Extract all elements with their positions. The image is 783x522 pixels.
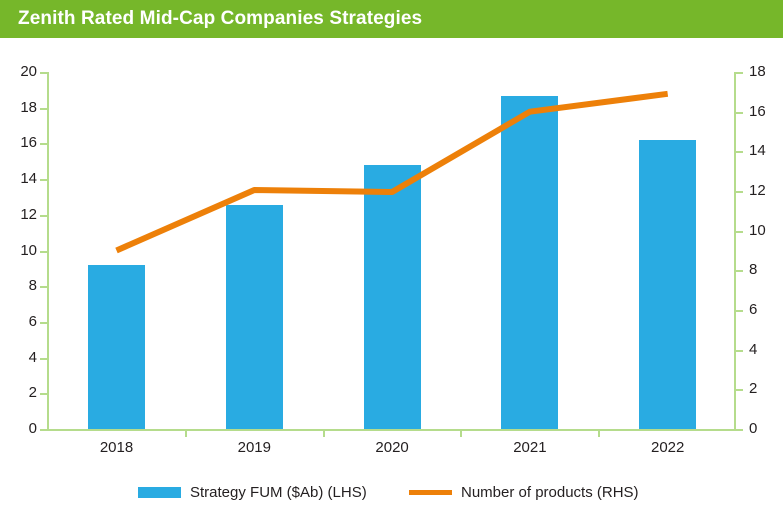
left-axis-label: 8: [1, 277, 37, 294]
left-axis-tick: [40, 286, 47, 288]
right-axis-tick: [736, 112, 743, 114]
left-axis-tick: [40, 393, 47, 395]
x-axis-label-2022: 2022: [608, 439, 728, 456]
chart-card: Zenith Rated Mid-Cap Companies Strategie…: [0, 0, 783, 522]
right-axis-label: 4: [749, 341, 783, 358]
chart-legend: Strategy FUM ($Ab) (LHS) Number of produ…: [0, 480, 783, 514]
left-axis-tick: [40, 429, 47, 431]
right-axis-tick: [736, 270, 743, 272]
left-axis-label: 0: [1, 420, 37, 437]
right-axis-label: 10: [749, 222, 783, 239]
left-axis-tick: [40, 179, 47, 181]
right-axis-label: 18: [749, 63, 783, 80]
left-axis-tick: [40, 251, 47, 253]
legend-label-strategy-fum: Strategy FUM ($Ab) (LHS): [190, 484, 367, 501]
left-axis-label: 6: [1, 313, 37, 330]
page-title: Zenith Rated Mid-Cap Companies Strategie…: [18, 8, 422, 30]
right-axis-label: 0: [749, 420, 783, 437]
x-axis-label-2018: 2018: [57, 439, 177, 456]
left-axis-tick: [40, 358, 47, 360]
left-axis-tick: [40, 215, 47, 217]
number-of-products-line: [47, 72, 736, 431]
x-axis-label-2021: 2021: [470, 439, 590, 456]
left-axis-tick: [40, 72, 47, 74]
right-axis-label: 8: [749, 261, 783, 278]
right-axis-tick: [736, 151, 743, 153]
plot-area: 20 18 16 14 12 10 8 6 4 2 0 18 16 14 12 …: [47, 72, 736, 429]
right-axis-label: 14: [749, 142, 783, 159]
left-axis-tick: [40, 108, 47, 110]
left-axis-label: 10: [1, 242, 37, 259]
right-axis-label: 6: [749, 301, 783, 318]
legend-item-number-of-products: Number of products (RHS): [409, 480, 639, 504]
right-axis-label: 12: [749, 182, 783, 199]
right-axis-tick: [736, 191, 743, 193]
left-axis-label: 12: [1, 206, 37, 223]
right-axis-tick: [736, 389, 743, 391]
legend-item-strategy-fum: Strategy FUM ($Ab) (LHS): [138, 480, 367, 504]
right-axis-tick: [736, 429, 743, 431]
bar-swatch-icon: [138, 487, 181, 498]
line-swatch-icon: [409, 490, 452, 495]
left-axis-label: 14: [1, 170, 37, 187]
right-axis-tick: [736, 310, 743, 312]
left-axis-label: 20: [1, 63, 37, 80]
right-axis-tick: [736, 350, 743, 352]
x-axis-label-2020: 2020: [332, 439, 452, 456]
left-axis-tick: [40, 143, 47, 145]
right-axis-tick: [736, 72, 743, 74]
x-axis-label-2019: 2019: [194, 439, 314, 456]
right-axis-tick: [736, 231, 743, 233]
left-axis-tick: [40, 322, 47, 324]
chart-title-bar: Zenith Rated Mid-Cap Companies Strategie…: [0, 0, 783, 38]
left-axis-label: 16: [1, 134, 37, 151]
left-axis-label: 2: [1, 384, 37, 401]
line-series-path: [117, 94, 668, 251]
right-axis-label: 16: [749, 103, 783, 120]
right-axis-label: 2: [749, 380, 783, 397]
legend-label-number-of-products: Number of products (RHS): [461, 484, 639, 501]
left-axis-label: 4: [1, 349, 37, 366]
left-axis-label: 18: [1, 99, 37, 116]
